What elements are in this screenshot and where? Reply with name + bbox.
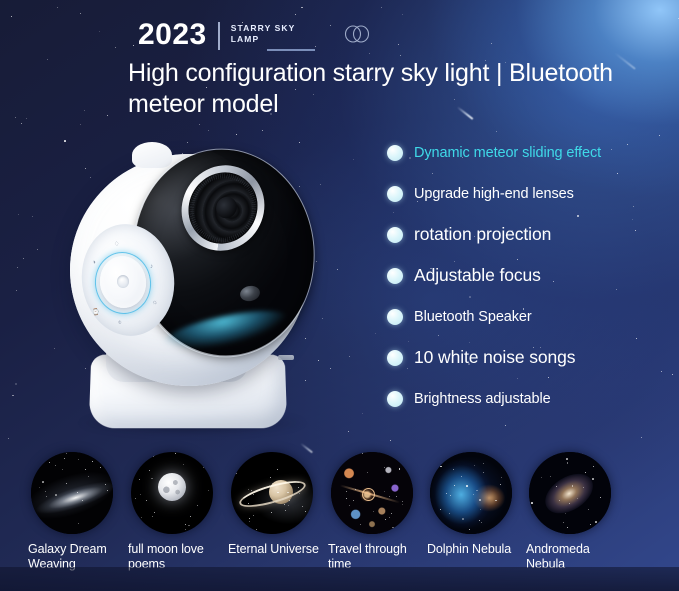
background-star (199, 124, 200, 125)
thumb-star (396, 496, 397, 497)
year-label: 2023 (138, 20, 207, 50)
thumb-star (391, 513, 392, 514)
background-star (80, 13, 81, 14)
thumb-star (103, 458, 105, 460)
moon-art (158, 473, 186, 501)
scene-thumbnail[interactable]: Galaxy Dream Weaving (22, 452, 122, 572)
thumb-star (42, 481, 44, 483)
background-star (15, 117, 16, 118)
background-star (208, 130, 209, 131)
background-star (99, 31, 101, 33)
background-star (678, 18, 679, 19)
header-divider (218, 22, 220, 50)
thumb-star (607, 457, 608, 458)
feature-label: rotation projection (414, 224, 551, 245)
thumb-star (46, 496, 47, 497)
thumb-star (285, 510, 286, 511)
double-circle-logo-icon (342, 25, 372, 48)
power-port-icon (278, 355, 294, 360)
thumb-star (187, 453, 189, 455)
background-star (107, 115, 108, 116)
thumb-star (141, 517, 142, 518)
thumb-star (135, 498, 136, 499)
background-star (12, 395, 14, 397)
thumb-star (105, 484, 106, 485)
thumb-star (88, 476, 89, 477)
background-star (349, 356, 350, 357)
background-star (115, 47, 116, 48)
thumb-star (462, 518, 464, 520)
music-icon[interactable]: ♪ (150, 264, 154, 271)
scene-thumbnail[interactable]: Travel through time (322, 452, 421, 572)
thumb-star (348, 455, 349, 456)
thumb-star (480, 509, 481, 510)
thumb-star (389, 517, 390, 518)
background-star (353, 159, 354, 160)
background-star (375, 333, 376, 334)
andromeda-nebula-thumbnail-icon[interactable] (529, 452, 611, 534)
thumb-star (185, 524, 186, 525)
bullet-dot-icon (387, 268, 403, 284)
thumb-star (139, 479, 141, 481)
thumb-star (402, 530, 403, 531)
background-star (337, 269, 338, 270)
background-star (16, 290, 17, 291)
thumb-star (277, 492, 279, 494)
thumb-star (175, 479, 176, 480)
thumbnail-caption: Dolphin Nebula (421, 542, 520, 557)
background-star (17, 267, 18, 268)
time-travel-thumbnail-icon[interactable] (331, 452, 413, 534)
feature-item: Adjustable focus (387, 255, 662, 296)
thumb-star (66, 453, 67, 454)
thumb-star (237, 518, 238, 519)
thumb-star (565, 513, 566, 514)
brand-line-2: LAMP (231, 34, 315, 45)
thumb-star (100, 467, 101, 468)
thumb-star (203, 467, 205, 469)
background-star (301, 7, 303, 9)
thumb-star (529, 454, 531, 456)
background-star (641, 437, 642, 438)
feature-item: rotation projection (387, 214, 662, 255)
thumb-star (440, 509, 441, 510)
thumbnail-caption: Eternal Universe (222, 542, 322, 557)
background-star (26, 118, 27, 119)
thumb-star (188, 525, 190, 527)
dolphin-nebula-thumbnail-icon[interactable] (430, 452, 512, 534)
thumb-star (270, 477, 271, 478)
thumb-star (481, 522, 482, 523)
galaxy-art (31, 452, 113, 534)
thumb-star (548, 455, 550, 457)
product-image: ♢ ◑ ♪ ☼ ⌚ ⌽ (62, 138, 322, 438)
background-star (37, 249, 38, 250)
thumb-star (146, 500, 147, 501)
thumb-star (454, 485, 455, 486)
thumb-star (402, 501, 403, 502)
thumb-star (287, 492, 289, 494)
background-star (505, 425, 506, 426)
background-star (47, 59, 48, 60)
galaxy-thumbnail-icon[interactable] (31, 452, 113, 534)
page-title: High configuration starry sky light | Bl… (128, 58, 618, 119)
thumb-star (190, 516, 191, 517)
background-star (236, 134, 237, 135)
background-star (400, 55, 401, 56)
background-star (381, 7, 382, 8)
background-star (57, 7, 58, 8)
bullet-dot-icon (387, 145, 403, 161)
background-star (402, 14, 403, 15)
thumb-star (149, 470, 150, 471)
thumb-star (208, 490, 209, 491)
thumb-star (39, 487, 40, 488)
thumb-star (461, 476, 462, 477)
moon-thumbnail-icon[interactable] (131, 452, 213, 534)
thumb-star (140, 494, 141, 495)
bottom-band (0, 567, 679, 591)
feature-list: Dynamic meteor sliding effectUpgrade hig… (387, 132, 662, 419)
product-poster: 2023 STARRY SKY LAMP High configuration … (0, 0, 679, 591)
background-star (295, 14, 296, 15)
background-star (262, 130, 263, 131)
thumb-star (183, 464, 184, 465)
thumb-star (55, 494, 57, 496)
bullet-dot-icon (387, 186, 403, 202)
dial-center-button[interactable] (117, 275, 129, 288)
timer-icon[interactable]: ⌚ (92, 309, 101, 317)
background-star (133, 45, 134, 46)
thumb-star (277, 469, 278, 470)
thumb-star (154, 512, 155, 513)
brand-underline (267, 49, 315, 51)
power-icon[interactable]: ⌽ (118, 320, 123, 327)
thumb-star (531, 502, 533, 504)
thumb-star (360, 524, 361, 525)
background-star (54, 348, 55, 349)
bullet-dot-icon (387, 391, 403, 407)
feature-label: Bluetooth Speaker (414, 309, 532, 325)
background-star (390, 440, 391, 441)
thumb-star (537, 527, 538, 528)
bullet-dot-icon (387, 227, 403, 243)
feature-label: Brightness adjustable (414, 391, 551, 407)
bullet-dot-icon (387, 350, 403, 366)
thumb-star (152, 516, 153, 517)
feature-item: Upgrade high-end lenses (387, 173, 662, 214)
thumb-star (559, 500, 560, 501)
background-star (369, 53, 370, 54)
brightness-icon[interactable]: ☼ (152, 300, 159, 307)
thumb-star (151, 478, 153, 480)
background-star (15, 383, 17, 385)
thumb-star (154, 455, 155, 456)
dolphin-nebula-art (430, 452, 512, 534)
bluetooth-icon[interactable]: ♢ (114, 242, 121, 249)
feature-item: Dynamic meteor sliding effect (387, 132, 662, 173)
scene-thumbnail[interactable]: Andromeda Nebula (520, 452, 619, 572)
thumb-star (550, 476, 551, 477)
thumb-star (251, 490, 252, 491)
thumb-star (466, 485, 468, 487)
thumb-star (600, 497, 601, 498)
background-star (398, 44, 399, 45)
thumb-star (556, 486, 557, 487)
feature-label: Dynamic meteor sliding effect (414, 145, 601, 161)
scene-thumbnail-row: Galaxy Dream Weavingfull moon love poems… (0, 452, 679, 572)
time-ring (362, 488, 375, 501)
thumb-star (185, 529, 186, 530)
background-star (23, 258, 24, 259)
background-star (8, 438, 9, 439)
background-star (18, 214, 19, 215)
brand-block: STARRY SKY LAMP (231, 23, 315, 51)
thumb-star (172, 485, 173, 486)
thumb-star (590, 524, 591, 525)
thumb-star (439, 520, 440, 521)
background-star (491, 43, 492, 44)
thumb-star (197, 505, 198, 506)
feature-label: Upgrade high-end lenses (414, 186, 574, 202)
brand-line-1: STARRY SKY (231, 23, 315, 34)
thumb-star (253, 515, 254, 516)
background-star (84, 110, 85, 111)
background-star (11, 16, 12, 17)
thumb-star (404, 525, 405, 526)
thumb-star (569, 503, 570, 504)
background-star (672, 374, 673, 375)
background-star (362, 413, 363, 414)
scene-thumbnail[interactable]: Dolphin Nebula (421, 452, 520, 572)
scene-thumbnail[interactable]: full moon love poems (122, 452, 222, 572)
feature-label: Adjustable focus (414, 265, 541, 286)
feature-item: Brightness adjustable (387, 378, 662, 419)
poster-header: 2023 STARRY SKY LAMP (138, 20, 372, 51)
feature-item: 10 white noise songs (387, 337, 662, 378)
thumb-star (450, 495, 451, 496)
saturn-thumbnail-icon[interactable] (231, 452, 313, 534)
thumb-star (474, 465, 475, 466)
thumb-star (479, 499, 481, 501)
scene-thumbnail[interactable]: Eternal Universe (222, 452, 322, 572)
bullet-dot-icon (387, 309, 403, 325)
feature-label: 10 white noise songs (414, 347, 575, 368)
thumb-star (563, 522, 564, 523)
thumb-star (356, 531, 357, 532)
thumb-star (192, 530, 194, 532)
thumb-star (595, 521, 597, 523)
mode-icon[interactable]: ◑ (92, 260, 97, 267)
thumb-star (592, 478, 594, 480)
background-star (80, 124, 81, 125)
background-star (348, 431, 349, 432)
thumb-star (62, 469, 63, 470)
thumb-star (288, 505, 289, 506)
thumb-star (473, 494, 474, 495)
feature-item: Bluetooth Speaker (387, 296, 662, 337)
thumb-star (305, 511, 306, 512)
thumb-star (236, 473, 237, 474)
thumb-star (175, 453, 176, 454)
thumb-star (393, 530, 394, 531)
thumb-star (66, 483, 67, 484)
background-star (32, 216, 33, 217)
background-star (330, 368, 331, 369)
background-star (21, 123, 22, 124)
thumb-star (64, 458, 65, 459)
thumb-star (153, 456, 154, 457)
